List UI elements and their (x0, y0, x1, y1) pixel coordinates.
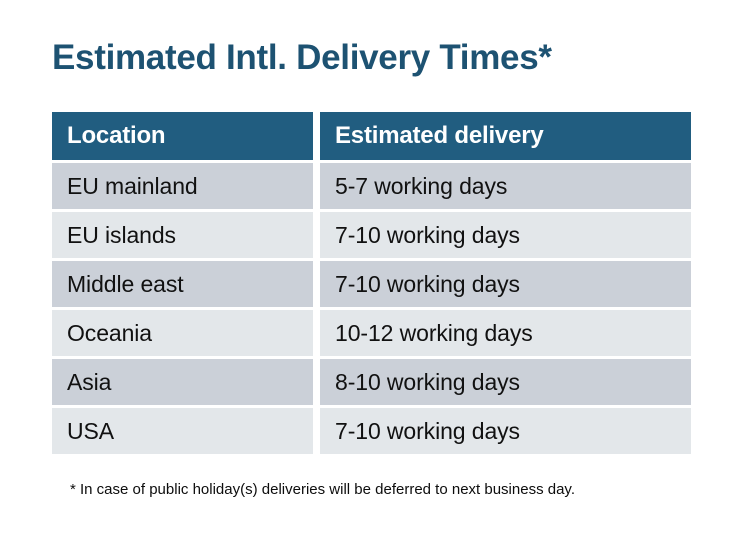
cell-location: Oceania (52, 310, 313, 356)
table-header-row: Location Estimated delivery (52, 112, 691, 160)
cell-delivery: 7-10 working days (320, 261, 691, 307)
cell-delivery: 5-7 working days (320, 163, 691, 209)
column-header-estimated-delivery: Estimated delivery (320, 112, 691, 160)
cell-location: USA (52, 408, 313, 454)
table-row: Middle east 7-10 working days (52, 261, 691, 307)
table-row: USA 7-10 working days (52, 408, 691, 454)
table-row: Oceania 10-12 working days (52, 310, 691, 356)
cell-delivery: 7-10 working days (320, 408, 691, 454)
cell-location: EU islands (52, 212, 313, 258)
column-header-location: Location (52, 112, 313, 160)
cell-location: EU mainland (52, 163, 313, 209)
cell-delivery: 7-10 working days (320, 212, 691, 258)
cell-delivery: 10-12 working days (320, 310, 691, 356)
cell-location: Asia (52, 359, 313, 405)
table-row: EU islands 7-10 working days (52, 212, 691, 258)
page-title: Estimated Intl. Delivery Times* (52, 36, 552, 80)
cell-location: Middle east (52, 261, 313, 307)
cell-delivery: 8-10 working days (320, 359, 691, 405)
footnote-text: * In case of public holiday(s) deliverie… (70, 480, 575, 500)
delivery-times-table: Location Estimated delivery EU mainland … (52, 112, 691, 454)
table-row: Asia 8-10 working days (52, 359, 691, 405)
table-row: EU mainland 5-7 working days (52, 163, 691, 209)
delivery-times-card: Estimated Intl. Delivery Times* Location… (0, 0, 745, 536)
